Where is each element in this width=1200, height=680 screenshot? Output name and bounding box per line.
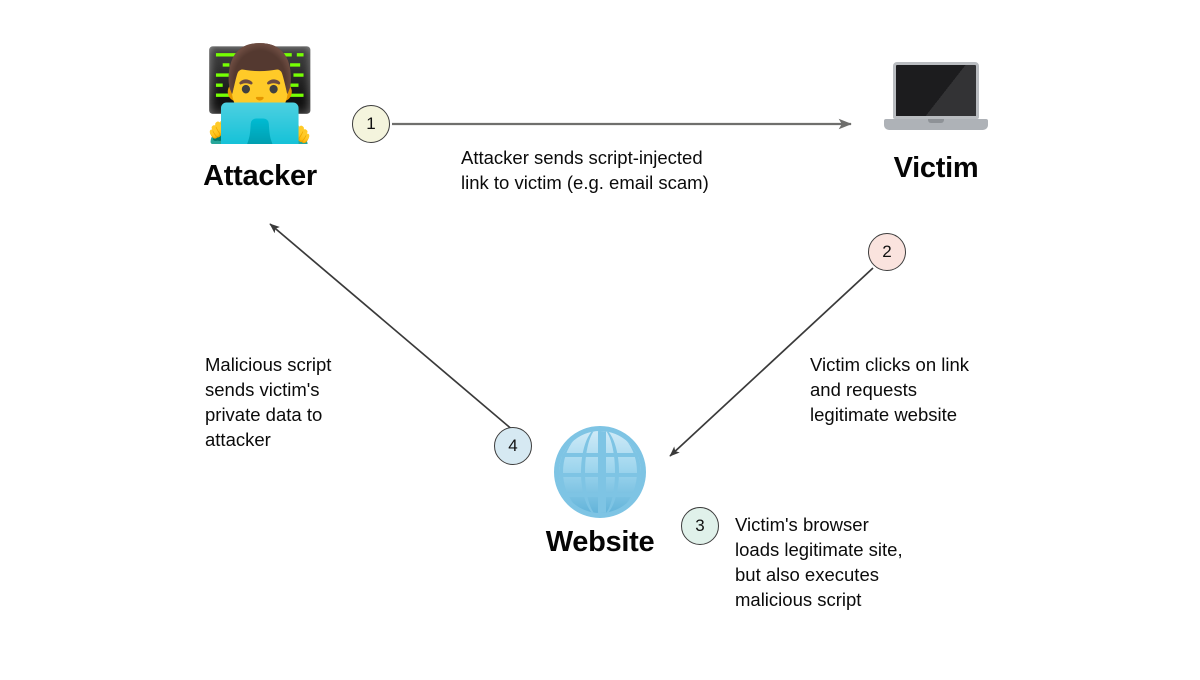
node-victim-label: Victim (836, 152, 1036, 185)
laptop-notch (928, 119, 944, 123)
node-website-label: Website (500, 526, 700, 559)
step-badge-2: 2 (868, 233, 906, 271)
step-1-caption: Attacker sends script-injected link to v… (461, 145, 761, 195)
step-badge-2-number: 2 (882, 242, 891, 262)
step-4-caption: Malicious script sends victim's private … (205, 352, 425, 452)
man-technologist-icon: 👨‍💻 (160, 48, 360, 152)
laptop-icon (884, 62, 988, 140)
step-badge-4: 4 (494, 427, 532, 465)
laptop-screen (893, 62, 979, 119)
globe-with-meridians-icon (554, 426, 646, 518)
diagram-canvas: 👨‍💻 Attacker Victim Website 1 2 3 4 (0, 0, 1200, 680)
step-2-caption: Victim clicks on link and requests legit… (810, 352, 1030, 427)
node-attacker-label: Attacker (160, 160, 360, 193)
step-badge-3: 3 (681, 507, 719, 545)
globe-meridian (598, 427, 606, 517)
node-attacker: 👨‍💻 Attacker (160, 48, 360, 193)
step-badge-1-number: 1 (366, 114, 375, 134)
step-badge-1: 1 (352, 105, 390, 143)
step-badge-3-number: 3 (695, 516, 704, 536)
step-badge-4-number: 4 (508, 436, 517, 456)
step-3-caption: Victim's browser loads legitimate site, … (735, 512, 985, 612)
node-victim: Victim (836, 48, 1036, 185)
